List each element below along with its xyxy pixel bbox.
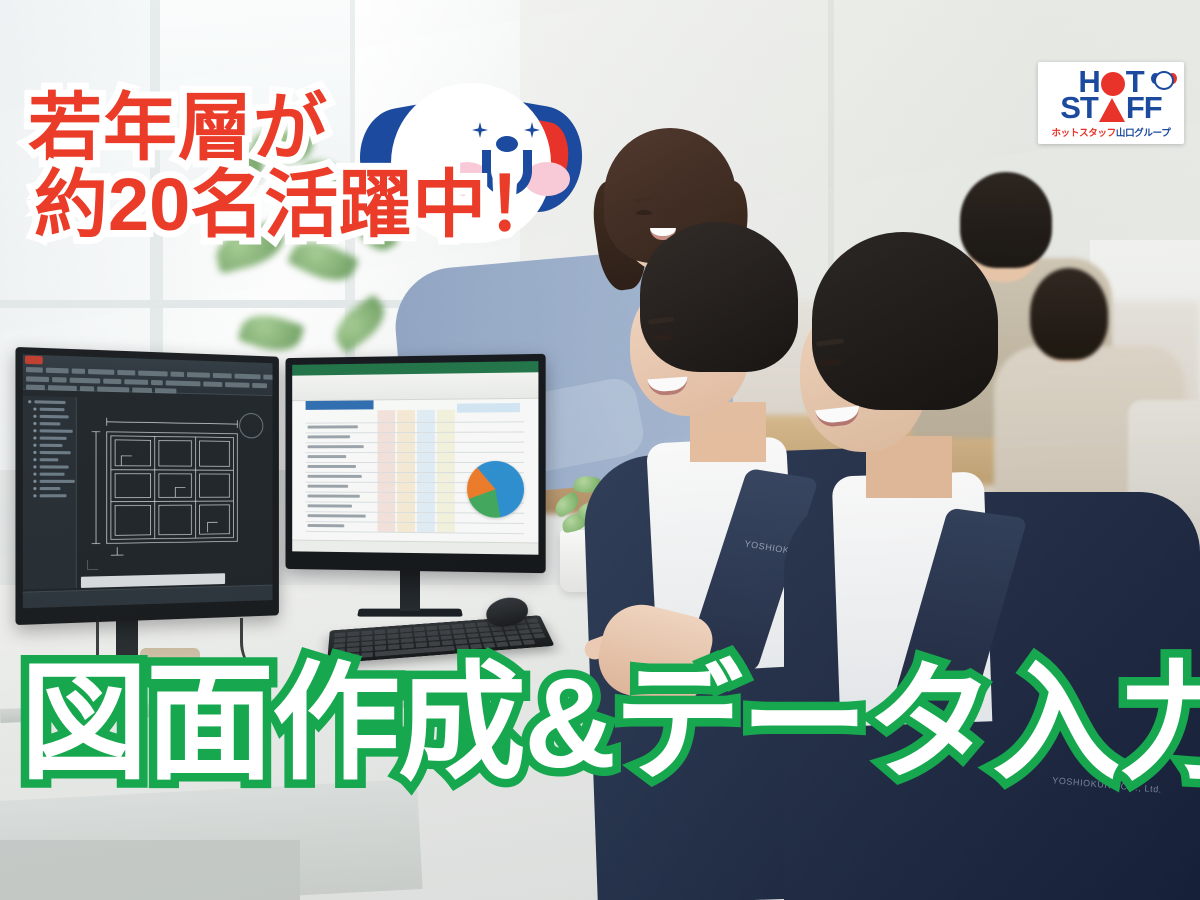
spreadsheet-grid [292, 399, 538, 541]
cad-ribbon [23, 354, 273, 396]
cad-app-menu-icon [25, 356, 43, 365]
cad-monitor [15, 347, 278, 625]
spreadsheet-ribbon [292, 372, 538, 401]
logo-letters-st: ST [1060, 94, 1098, 123]
spreadsheet-screen [292, 361, 538, 555]
spreadsheet-pie-chart [467, 461, 524, 518]
cad-screen [23, 354, 273, 608]
spreadsheet-status-bar [292, 540, 538, 555]
background-colleague-man-hair [960, 172, 1052, 268]
headline-top-line1: 若年層が [28, 86, 328, 169]
logo-subtitle: ホットスタッフ山口グループ [1051, 125, 1170, 139]
logo-subtitle-region: 山口グループ [1116, 128, 1171, 139]
background-colleague-woman-hair [1030, 268, 1108, 360]
logo-letter-a-triangle [1099, 98, 1125, 122]
logo-letters-ff: FF [1126, 94, 1162, 123]
cad-layer-panel [23, 396, 77, 590]
spreadsheet-monitor-stand [400, 565, 420, 611]
man-right-hair [812, 232, 998, 410]
cad-viewcube-icon [239, 413, 263, 439]
logo-mascot-head [1154, 71, 1174, 90]
hot-staff-logo: HT STFF ホットスタッフ山口グループ [1038, 62, 1184, 144]
headline-bottom: 図面作成&データ入力 [20, 660, 1200, 788]
floor [0, 840, 300, 900]
logo-letter-o-circle [1101, 72, 1125, 96]
man-center-eye [650, 334, 672, 341]
headline-top-line2: 約20名活躍中！ [34, 167, 560, 244]
logo-mascot-icon [1151, 70, 1177, 94]
cad-layer-tree [28, 400, 75, 501]
headline-top: 若年層が約20名活躍中！ [28, 90, 560, 244]
logo-word-staff: STFF [1060, 94, 1162, 123]
recruitment-poster: YOSHIOKURA CO., Ltd. YOSHIOKURA CO., Ltd… [0, 0, 1200, 900]
logo-subtitle-katakana: ホットスタッフ [1051, 128, 1115, 139]
woman-eye [636, 210, 652, 215]
spreadsheet-monitor [286, 354, 546, 573]
spreadsheet-header-row [306, 400, 374, 410]
man-center-hair [640, 222, 798, 372]
